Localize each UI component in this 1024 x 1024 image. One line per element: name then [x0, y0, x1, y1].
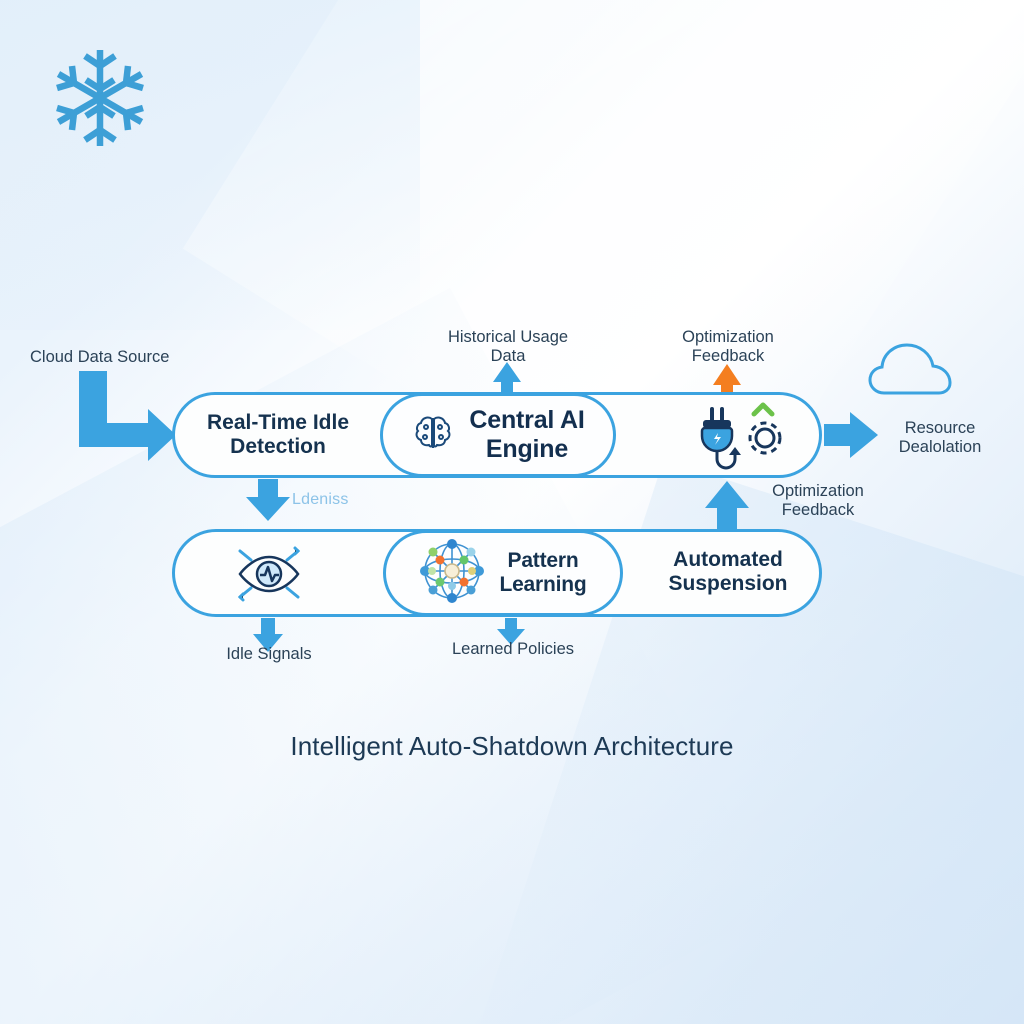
figure-title: Intelligent Auto-Shatdown Architecture	[0, 731, 1024, 762]
node-central-ai-engine[interactable]: Central AI Engine	[380, 393, 616, 477]
edge-label-optimization-feedback-top: Optimization Feedback	[646, 328, 810, 367]
power-plug-gear-icon	[690, 398, 794, 474]
edge-label-learned-policies: Learned Policies	[430, 640, 596, 659]
edge-label-line1: Resource	[866, 419, 1014, 438]
node-label-line1: Pattern	[508, 549, 579, 572]
neural-network-icon	[419, 538, 485, 609]
node-label-line1: Real-Time Idle	[188, 411, 368, 435]
diagram-canvas: Real-Time Idle Detection Central AI Engi…	[0, 0, 1024, 1024]
node-automated-shutdown[interactable]	[690, 398, 794, 474]
node-label-line2: Learning	[499, 573, 586, 596]
edge-label-cloud-data-source: Cloud Data Source	[30, 348, 220, 367]
node-automated-suspension[interactable]: Automated Suspension	[638, 548, 818, 597]
node-idle-monitoring[interactable]	[226, 537, 312, 611]
arrow-cloud-data-source	[79, 371, 176, 461]
edge-label-resource-dealolation: Resource Dealolation	[866, 419, 1014, 458]
edge-label-idle-signals: Idle Signals	[196, 645, 342, 664]
edge-label-line1: Optimization	[646, 328, 810, 347]
node-label-line2: Engine	[486, 435, 568, 463]
node-label: Central AI Engine	[469, 406, 584, 464]
node-label: Pattern Learning	[499, 549, 586, 598]
cloud-icon	[870, 345, 950, 393]
edge-label-line2: Feedback	[646, 347, 810, 366]
edge-label-line2: Feedback	[742, 501, 894, 520]
edge-label-optimization-feedback-bottom: Optimization Feedback	[742, 482, 894, 521]
edge-label-line1: Historical Usage	[418, 328, 598, 347]
eye-pulse-icon	[226, 537, 312, 611]
edge-label-line1: Optimization	[742, 482, 894, 501]
node-label-line2: Suspension	[638, 572, 818, 596]
node-label-line1: Central AI	[469, 406, 584, 434]
edge-label-ldeniss: Ldeniss	[292, 491, 349, 509]
node-label-line1: Automated	[638, 548, 818, 572]
node-pattern-learning[interactable]: Pattern Learning	[383, 530, 623, 616]
edge-label-line2: Data	[418, 347, 598, 366]
node-label-line2: Detection	[188, 435, 368, 459]
brain-icon	[411, 411, 455, 460]
node-real-time-idle-detection[interactable]: Real-Time Idle Detection	[188, 411, 368, 460]
edge-label-historical-usage-data: Historical Usage Data	[418, 328, 598, 367]
snowflake-icon	[48, 44, 152, 152]
arrow-ldeniss	[246, 479, 290, 521]
edge-label-line2: Dealolation	[866, 438, 1014, 457]
